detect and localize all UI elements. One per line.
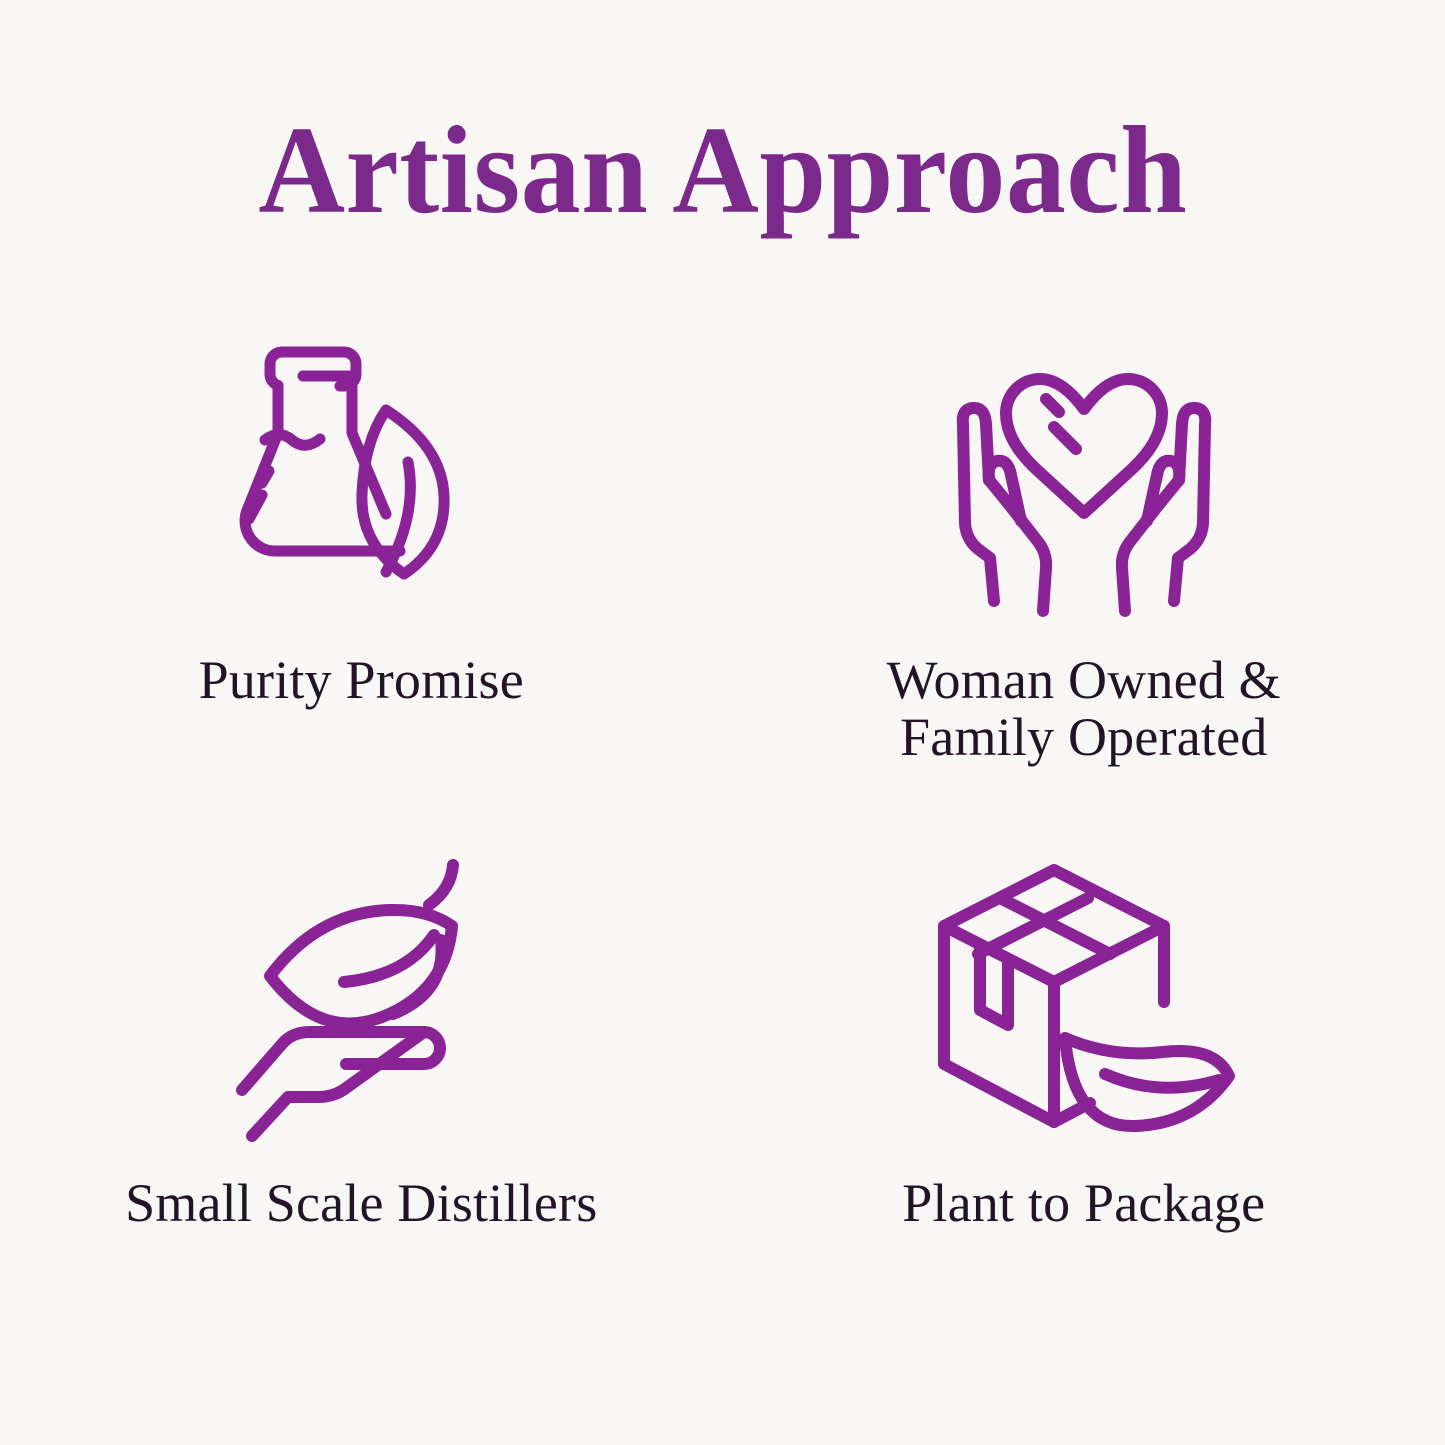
feature-grid: Purity Promise xyxy=(0,330,1445,1340)
hands-heart-icon xyxy=(934,330,1234,630)
feature-cell-small-scale-distillers: Small Scale Distillers xyxy=(0,835,723,1340)
feature-label-purity-promise: Purity Promise xyxy=(199,652,524,709)
feature-cell-plant-to-package: Plant to Package xyxy=(723,835,1445,1340)
box-leaf-icon xyxy=(934,849,1234,1149)
flask-leaf-icon xyxy=(236,330,486,630)
artisan-approach-infographic: Artisan Approach xyxy=(0,0,1445,1445)
feature-label-woman-owned: Woman Owned & Family Operated xyxy=(887,652,1281,766)
feature-cell-woman-owned: Woman Owned & Family Operated xyxy=(723,330,1445,835)
feature-label-plant-to-package: Plant to Package xyxy=(902,1175,1265,1232)
hand-leaf-icon xyxy=(226,849,496,1149)
feature-cell-purity-promise: Purity Promise xyxy=(0,330,723,835)
page-title-container: Artisan Approach xyxy=(0,104,1445,239)
feature-label-small-scale-distillers: Small Scale Distillers xyxy=(125,1175,597,1232)
page-title: Artisan Approach xyxy=(258,104,1187,239)
